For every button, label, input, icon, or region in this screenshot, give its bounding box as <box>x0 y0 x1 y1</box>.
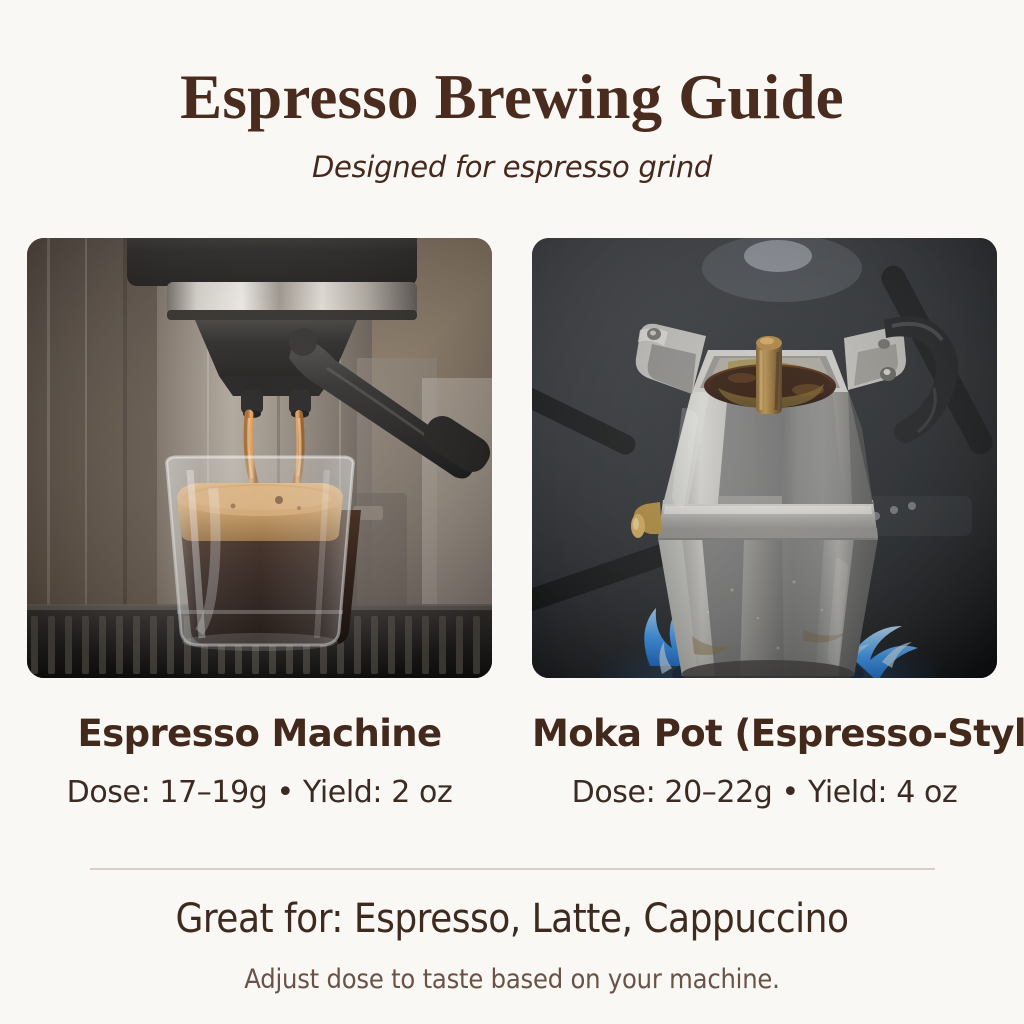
card-title-moka-pot: Moka Pot (Espresso-Style) <box>532 678 997 755</box>
espresso-machine-photo <box>27 238 492 678</box>
card-specs-espresso-machine: Dose: 17–19g • Yield: 2 oz <box>27 755 492 810</box>
moka-pot-photo <box>532 238 997 678</box>
section-divider <box>90 868 935 870</box>
footer: Great for: Espresso, Latte, Cappuccino A… <box>0 896 1024 995</box>
brew-method-card-espresso-machine[interactable]: Espresso Machine Dose: 17–19g • Yield: 2… <box>27 238 492 810</box>
card-specs-moka-pot: Dose: 20–22g • Yield: 4 oz <box>532 755 997 810</box>
moka-pot-illustration <box>532 238 997 678</box>
espresso-brewing-guide-page: Espresso Brewing Guide Designed for espr… <box>0 0 1024 1024</box>
brew-method-cards: Espresso Machine Dose: 17–19g • Yield: 2… <box>27 238 997 810</box>
espresso-machine-illustration <box>27 238 492 678</box>
page-subtitle: Designed for espresso grind <box>0 130 1024 184</box>
page-title: Espresso Brewing Guide <box>0 0 1024 130</box>
header: Espresso Brewing Guide Designed for espr… <box>0 0 1024 184</box>
great-for-text: Great for: Espresso, Latte, Cappuccino <box>0 896 1024 942</box>
footer-note: Adjust dose to taste based on your machi… <box>0 942 1024 995</box>
brew-method-card-moka-pot[interactable]: Moka Pot (Espresso-Style) Dose: 20–22g •… <box>532 238 997 810</box>
card-title-espresso-machine: Espresso Machine <box>27 678 492 755</box>
